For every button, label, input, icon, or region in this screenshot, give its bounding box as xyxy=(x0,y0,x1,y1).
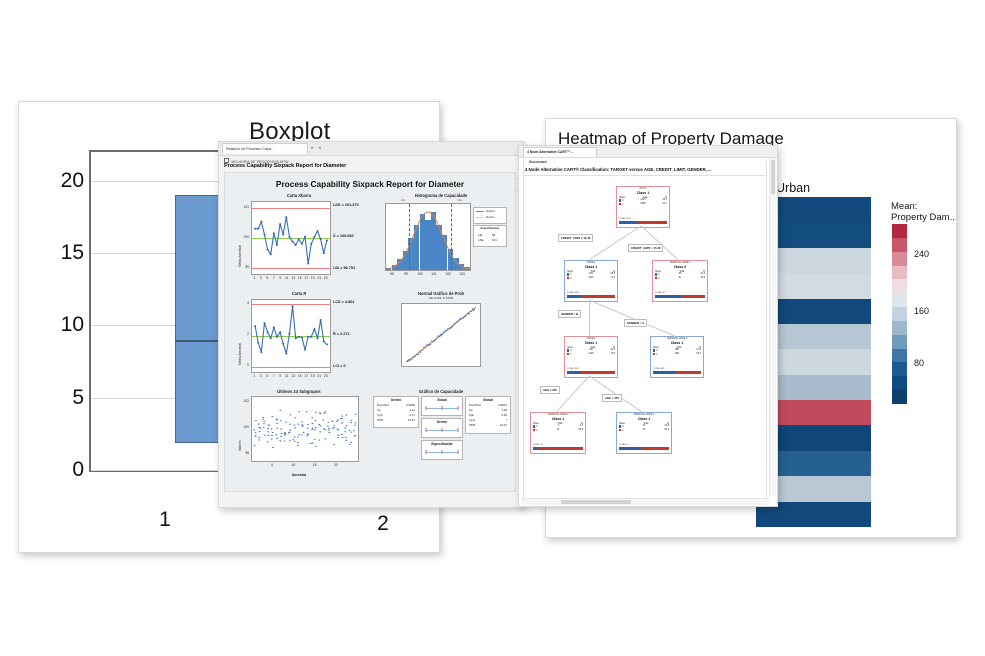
within-stat-label: Cp xyxy=(377,408,381,412)
global-stat-value: 0.36 xyxy=(501,413,507,417)
tree-node-title: Class 1 xyxy=(565,265,617,269)
tree-node-bar xyxy=(567,371,615,374)
bar-marker xyxy=(426,428,427,432)
class-swatch xyxy=(653,349,655,351)
spec-limit-line xyxy=(451,204,452,270)
panel-normal-prob-plot: Normal Gráfico de Prob AD 0.201; P 0.878 xyxy=(375,291,507,387)
series-line xyxy=(252,300,330,372)
spec-limit-line xyxy=(409,204,410,270)
colorbar-segment xyxy=(892,390,907,404)
tree-split-label: CREDIT_LIMIT > 15.46 xyxy=(628,244,663,252)
colorbar-segment xyxy=(892,307,907,321)
lcl-label: LCI = 0 xyxy=(333,364,346,368)
legend-label-global: Global xyxy=(486,209,494,213)
within-stat-label: DesvPad xyxy=(377,403,389,407)
y-tick-label: 4 xyxy=(240,301,249,305)
tree-node[interactable]: TERMINAL NODE 3Class 1ClassTotal%01344.8… xyxy=(616,412,672,454)
tree-node-bar xyxy=(655,295,705,298)
panel-title: Carta Xbarra xyxy=(235,193,363,198)
tree-node-title: Class 0 xyxy=(653,265,707,269)
x-tick-label: 19 xyxy=(311,276,315,280)
x-tick-label: 3 xyxy=(260,276,262,280)
y-tick-label: 101 xyxy=(240,205,249,209)
minitab-tab-bar: Relatório de Processo Capa... ▾ ✕ xyxy=(219,142,523,156)
bar-marker xyxy=(458,406,459,410)
tree-node-table: ClassTotal%053228.81131671.2 xyxy=(567,271,615,282)
bar-segment-class1 xyxy=(538,447,583,450)
bar-segment-class1 xyxy=(637,221,667,224)
within-stat-value: 0.9366 xyxy=(406,403,415,407)
cart-heading: 4 Node Alternative CART® Classification:… xyxy=(525,167,711,172)
tree-node-bar xyxy=(619,447,669,450)
tree-split-label: GENDER = B xyxy=(558,310,581,318)
x-tick-label: 102 xyxy=(445,272,451,276)
within-header: Dentro xyxy=(374,398,418,402)
x-tick-label: 3 xyxy=(260,374,262,378)
global-stat-label: DesvPad xyxy=(469,403,481,407)
ucl-label: LCS = 4.801 xyxy=(333,300,354,304)
tree-node-bar-label: TOTAL 1681 xyxy=(567,368,579,370)
x-tick-label: 15 xyxy=(313,463,317,467)
legend-title-line1: Mean: xyxy=(891,201,917,212)
usl-label: LSE xyxy=(457,199,462,202)
x-tick-label: 5 xyxy=(266,374,268,378)
class-swatch xyxy=(619,425,621,427)
colorbar-segment xyxy=(892,376,907,390)
class-swatch xyxy=(567,349,569,351)
class-swatch xyxy=(567,273,569,275)
tree-node-title: Class 1 xyxy=(617,191,669,195)
minitab-report-window[interactable]: Relatório de Processo Capa... ▾ ✕ MELHOR… xyxy=(218,141,524,508)
tree-node[interactable]: NODE 3Class 1ClassTotal%044626.51123573.… xyxy=(564,336,618,378)
lsl-label: LIE xyxy=(401,199,405,202)
y-tick-label: 99 xyxy=(240,265,249,269)
y-tick-label: 5 xyxy=(72,386,84,410)
colorbar-segment xyxy=(892,238,907,252)
x-tick-label: 103 xyxy=(459,272,465,276)
xbar-plot-area xyxy=(251,201,331,275)
within-stat-value: 1.11 xyxy=(410,408,415,412)
colorbar-segment xyxy=(892,224,907,238)
global-stat-value: 12.07 xyxy=(500,423,507,427)
report-canvas: Process Capability Sixpack Report for Di… xyxy=(224,172,516,492)
bar-segment-class0 xyxy=(653,371,676,374)
tree-node-subtitle: ROOT xyxy=(617,188,669,190)
spec-row-value: 101 xyxy=(492,238,497,242)
x-tick-label: 15 xyxy=(298,276,302,280)
scrollbar-thumb[interactable] xyxy=(561,500,631,504)
class-swatch xyxy=(619,429,621,431)
horizontal-scrollbar[interactable] xyxy=(521,498,769,505)
color-bar xyxy=(892,224,907,404)
x-tick-label: 17 xyxy=(304,276,308,280)
bar-segment-class0 xyxy=(619,447,641,450)
tree-node-bar-label: TOTAL 3700 xyxy=(619,218,631,220)
bar-label-global: Global xyxy=(422,398,462,402)
bar-marker xyxy=(442,406,443,410)
class-swatch xyxy=(655,277,657,279)
colorbar-tick: 160 xyxy=(914,306,929,316)
colorbar-segment xyxy=(892,252,907,266)
x-tick-label: 23 xyxy=(324,374,328,378)
tree-edge xyxy=(556,376,590,412)
legend-swatch-within xyxy=(476,217,484,218)
bar-line xyxy=(426,408,458,409)
y-axis-label: Valores xyxy=(238,440,242,451)
bar-marker xyxy=(458,428,459,432)
y-tick-label: 102 xyxy=(237,399,249,403)
bar-label-spec: Especificação xyxy=(422,442,462,446)
center-label: X̄ = 100.060 xyxy=(333,234,354,238)
histogram-plot-area xyxy=(385,203,471,271)
panel-capability-chart: Gráfico de Capacidade Dentro DesvPad0.93… xyxy=(371,389,511,485)
bar-segment-class1 xyxy=(580,371,615,374)
tab-cart-classification[interactable]: 4 Node Alternative CART™... xyxy=(523,147,597,157)
tree-node-title: Class 1 xyxy=(651,341,703,345)
colorbar-segment xyxy=(892,279,907,293)
x-tick-label: 99 xyxy=(404,272,408,276)
global-stat-value: 1.08 xyxy=(501,408,507,412)
global-stat-label: PPM xyxy=(469,423,475,427)
tab-close-icon[interactable]: ▾ ✕ xyxy=(311,145,323,150)
x-tick-label: 9 xyxy=(279,276,281,280)
spec-table-header: Especificações xyxy=(474,227,506,230)
tree-node-bar xyxy=(567,295,615,298)
bar-marker xyxy=(426,450,427,454)
y-tick-label: 0 xyxy=(240,363,249,367)
x-tick-label: 21 xyxy=(317,276,321,280)
x-tick-label: 21 xyxy=(317,374,321,378)
x-tick-label: 9 xyxy=(279,374,281,378)
tree-node-bar-label: TOTAL 29 xyxy=(619,444,628,446)
bar-segment-class0 xyxy=(619,221,637,224)
cart-tree-window[interactable]: 4 Node Alternative CART™... Scorecard 4 … xyxy=(518,145,778,507)
tree-node[interactable]: NODE 2Class 1ClassTotal%053228.81131671.… xyxy=(564,260,618,302)
x-tick-label: 19 xyxy=(311,374,315,378)
tree-node-table: ClassTotal%08651.518148.5 xyxy=(655,271,705,282)
series-line xyxy=(252,202,330,274)
colorbar-tick: 240 xyxy=(914,249,929,259)
tree-node-row: 18148.5 xyxy=(655,277,705,281)
y-tick-label: 0 xyxy=(72,458,84,482)
lcl-label: LDI = 98.751 xyxy=(333,266,355,270)
report-heading: Process Capability Sixpack Report for Di… xyxy=(224,163,346,169)
tree-node-row: 1123573.5 xyxy=(567,353,615,357)
bar-segment-class1 xyxy=(641,447,669,450)
x-tick-label: 23 xyxy=(324,276,328,280)
within-stat-value: 0.37 xyxy=(409,413,415,417)
tree-node[interactable]: TERMINAL NODE 4Class 1ClassTotal%088647.… xyxy=(650,336,704,378)
x-tick-label: 5 xyxy=(266,276,268,280)
tree-split-label: GENDER = A xyxy=(624,319,647,327)
panel-title: Histograma de Capacidade xyxy=(375,193,507,198)
within-stats-table: Dentro DesvPad0.9366Cp1.11CpK0.37PPM13.4… xyxy=(373,396,419,428)
x-tick-label: 1 xyxy=(253,374,255,378)
x-tick-label: 101 xyxy=(431,272,437,276)
global-stat-label: Cpm xyxy=(469,418,475,422)
x-tick-label: 10 xyxy=(292,463,296,467)
bar-segment-class1 xyxy=(581,295,615,298)
x-tick-label: 17 xyxy=(304,374,308,378)
class-swatch xyxy=(653,353,655,355)
colorbar-segment xyxy=(892,335,907,349)
panel-title: Gráfico de Capacidade xyxy=(371,389,511,394)
center-label: R̄ = 2.271 xyxy=(333,332,350,336)
tab-relatorio-processo[interactable]: Relatório de Processo Capa... xyxy=(222,143,308,154)
tree-node-row: 11655.2 xyxy=(619,429,669,433)
legend-swatch-global xyxy=(476,211,484,212)
class-swatch xyxy=(567,277,569,279)
tree-node-subtitle: TERMINAL NODE 2 xyxy=(531,414,585,416)
bar-marker xyxy=(442,428,443,432)
x-tick-label: 13 xyxy=(291,276,295,280)
histogram-legend: Global Dentro xyxy=(473,207,507,224)
subgroups-plot-area xyxy=(251,396,359,462)
tree-node-table: ClassTotal%0141838.31228261.7 xyxy=(619,197,667,208)
tree-node-table: ClassTotal%044626.51123573.5 xyxy=(567,347,615,358)
tree-node-title: Class 1 xyxy=(565,341,617,345)
tree-node-bar xyxy=(653,371,701,374)
tree-split-label: AGE ≤ 325 xyxy=(540,386,560,394)
x-tick-label: 5 xyxy=(271,463,273,467)
bar-segment-class0 xyxy=(655,295,681,298)
panel-xbar-chart: Carta Xbarra Média Amostral 101 100 99 L… xyxy=(235,193,363,285)
class-swatch xyxy=(655,273,657,275)
x-tick-label: 100 xyxy=(417,272,423,276)
tree-split-label: CREDIT_LIMIT ≤ 15.46 xyxy=(558,234,593,242)
tree-node-bar xyxy=(619,221,667,224)
x-tick-label: 7 xyxy=(273,374,275,378)
class-swatch xyxy=(619,199,621,201)
capability-bar-within: Dentro xyxy=(421,418,463,438)
x-tick-label: 11 xyxy=(285,374,288,378)
legend-title: Mean: Property Dam... xyxy=(891,201,957,223)
colorbar-tick: 80 xyxy=(914,358,924,368)
vertical-scrollbar[interactable] xyxy=(769,158,776,496)
legend-title-line2: Property Dam... xyxy=(891,212,957,223)
colorbar-segment xyxy=(892,349,907,363)
bar-marker xyxy=(458,450,459,454)
x-tick-label: 11 xyxy=(285,276,288,280)
panel-title: Carta R xyxy=(235,291,363,296)
within-stat-label: CpK xyxy=(377,413,383,417)
colorbar-segment xyxy=(892,266,907,280)
bar-segment-class1 xyxy=(676,371,701,374)
bar-segment-class1 xyxy=(681,295,705,298)
colorbar-segment xyxy=(892,293,907,307)
tree-node-title: Class 1 xyxy=(531,417,585,421)
y-tick-label: 20 xyxy=(61,169,84,193)
tree-node-table: ClassTotal%01344.811655.2 xyxy=(619,423,669,434)
tree-edge xyxy=(589,300,590,336)
y-tick-label: 98 xyxy=(237,451,249,455)
spec-row-label: LSE xyxy=(478,238,483,242)
panel-capability-histogram: Histograma de Capacidade LIE LSE 9899100… xyxy=(375,193,507,285)
tree-node-row: 1131671.2 xyxy=(567,277,615,281)
tree-node-row: 1228261.7 xyxy=(619,203,667,207)
panel-last-subgroups: Últimos 24 Subgrupos Valores 102 100 98 … xyxy=(235,389,363,485)
spec-table: Especificações LIE 99 LSE 101 xyxy=(473,225,507,247)
global-stat-value: 0.8873 xyxy=(498,403,507,407)
within-stat-label: PPM xyxy=(377,418,383,422)
probability-points xyxy=(402,304,480,366)
tree-node-subtitle: TERMINAL NODE 1 xyxy=(653,262,707,264)
class-swatch xyxy=(619,203,621,205)
r-plot-area xyxy=(251,299,331,373)
ucl-label: LDS = 101.370 xyxy=(333,203,359,207)
panel-subtitle: AD 0.201; P 0.878 xyxy=(375,296,507,300)
y-tick-label: 100 xyxy=(240,235,249,239)
normal-plot-area xyxy=(401,303,481,367)
tree-node-subtitle: TERMINAL NODE 4 xyxy=(651,338,703,340)
colorbar-segment xyxy=(892,321,907,335)
spec-row-value: 99 xyxy=(492,233,495,237)
tree-node-subtitle: NODE 2 xyxy=(565,262,617,264)
x-axis-label: Amostra xyxy=(235,473,363,477)
tree-node-subtitle: NODE 3 xyxy=(565,338,617,340)
x-tick-label: 1 xyxy=(253,276,255,280)
x-tick-label: 20 xyxy=(334,463,338,467)
y-axis-label: Média Amostral xyxy=(238,343,242,365)
class-swatch xyxy=(533,429,535,431)
class-swatch xyxy=(567,353,569,355)
bar-line xyxy=(426,452,458,453)
x-tick-label: 98 xyxy=(390,272,394,276)
y-axis-label: Média Amostral xyxy=(238,245,242,267)
tree-node-bar xyxy=(533,447,583,450)
scatter-points xyxy=(252,397,358,461)
screenshot-stage: Boxplot 20 15 10 5 0 xyxy=(0,0,985,656)
tree-node-bar-label: TOTAL 1852 xyxy=(653,368,665,370)
tree-node[interactable]: ROOTClass 1ClassTotal%0141838.31228261.7… xyxy=(616,186,670,228)
tree-node-row: 13090.9 xyxy=(533,429,583,433)
bar-segment-class0 xyxy=(567,371,580,374)
within-stat-value: 13.43 xyxy=(408,418,415,422)
bar-marker xyxy=(426,406,427,410)
bar-label-within: Dentro xyxy=(422,420,462,424)
density-curve xyxy=(386,204,470,270)
bar-marker xyxy=(442,450,443,454)
tree-node-bar-label: TOTAL 1848 xyxy=(567,292,579,294)
panel-title: Últimos 24 Subgrupos xyxy=(235,389,363,394)
cart-subheading: Scorecard xyxy=(529,160,547,164)
report-canvas-title: Process Capability Sixpack Report for Di… xyxy=(225,179,515,189)
tree-node-subtitle: TERMINAL NODE 3 xyxy=(617,414,671,416)
class-swatch xyxy=(533,425,535,427)
global-stat-label: Ppk xyxy=(469,413,474,417)
spec-row-label: LIE xyxy=(478,233,482,237)
tree-node-title: Class 1 xyxy=(617,417,671,421)
stack-caption-2: 2 xyxy=(377,512,389,536)
y-tick-label: 10 xyxy=(61,313,84,337)
heatmap-column-header: Urban xyxy=(776,181,810,195)
capability-bar-spec: Especificação xyxy=(421,440,463,460)
legend-label-within: Dentro xyxy=(486,215,495,219)
global-stats-table: Global DesvPad0.8873Pp1.08Ppk0.36Cpm*PPM… xyxy=(465,396,511,434)
colorbar-segment xyxy=(892,362,907,376)
bar-segment-class0 xyxy=(567,295,581,298)
tree-split-label: AGE > 325 xyxy=(602,394,622,402)
x-tick-label: 13 xyxy=(291,374,295,378)
tree-node-table: ClassTotal%088647.8196652.2 xyxy=(653,347,701,358)
cart-tree-canvas[interactable]: ROOTClass 1ClassTotal%0141838.31228261.7… xyxy=(523,175,767,499)
stack-caption-1: 1 xyxy=(159,508,171,532)
y-tick-label: 100 xyxy=(237,425,249,429)
bar-line xyxy=(426,430,458,431)
tree-node-row: 196652.2 xyxy=(653,353,701,357)
x-tick-label: 15 xyxy=(298,374,302,378)
global-header: Global xyxy=(466,398,510,402)
tree-node-bar-label: TOTAL 167 xyxy=(655,292,665,294)
global-stat-label: Pp xyxy=(469,408,473,412)
capability-bar-global: Global xyxy=(421,396,463,416)
tree-node[interactable]: TERMINAL NODE 2Class 1ClassTotal%039.113… xyxy=(530,412,586,454)
y-tick-label: 15 xyxy=(61,241,84,265)
panel-r-chart: Carta R Média Amostral 4 2 0 LCS = 4.801… xyxy=(235,291,363,383)
cart-tab-bar: 4 Node Alternative CART™... xyxy=(519,146,777,158)
x-tick-label: 7 xyxy=(273,276,275,280)
tree-node[interactable]: TERMINAL NODE 1Class 0ClassTotal%08651.5… xyxy=(652,260,708,302)
tree-edge xyxy=(590,225,642,260)
y-tick-label: 2 xyxy=(240,332,249,336)
tree-node-bar-label: TOTAL 33 xyxy=(533,444,542,446)
scrollbar-thumb[interactable] xyxy=(771,160,775,194)
global-stat-value: * xyxy=(506,418,507,422)
tree-node-table: ClassTotal%039.113090.9 xyxy=(533,423,583,434)
